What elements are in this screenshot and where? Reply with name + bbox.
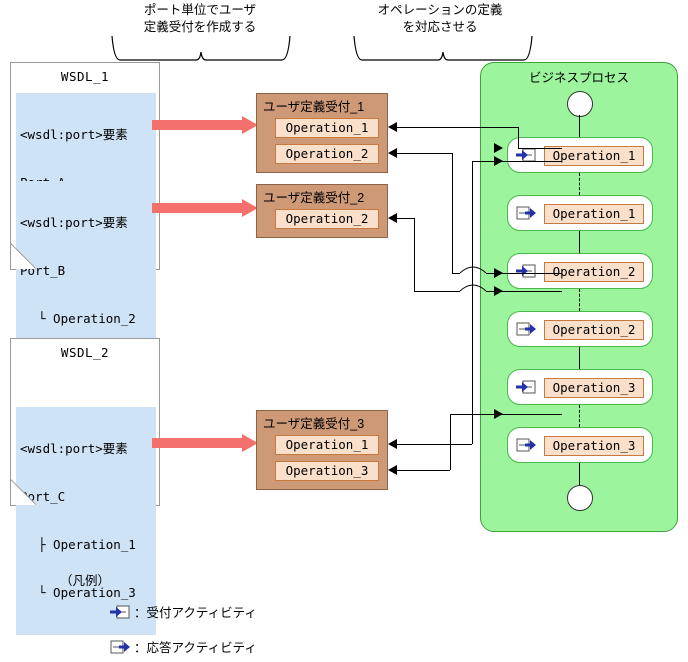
user-receive-2-operation-chip-1[interactable]: Operation_2	[275, 209, 379, 229]
reply-activity-icon	[516, 205, 536, 221]
business-process-panel: ビジネスプロセス Operation_1	[480, 62, 678, 532]
connector-1-arrowhead-left	[388, 122, 397, 132]
sequence-flow-4	[579, 347, 580, 369]
connector-4-segment-h1	[390, 444, 472, 445]
connector-4-arrowhead-left	[388, 439, 397, 449]
connector-5-segment-v	[450, 414, 451, 470]
connector-4-arrowhead-right	[494, 156, 503, 166]
wsdl-1-port-b-block: <wsdl:port>要素 Port_B └ Operation_2	[16, 181, 156, 361]
connector-1-segment-h2	[518, 148, 562, 149]
user-receive-1-operation-chip-2[interactable]: Operation_2	[275, 144, 379, 164]
wsdl-1-port-b-name: Port_B	[20, 263, 152, 279]
activity-reply-operation-1-label: Operation_1	[544, 204, 644, 224]
legend-item-reply: ：応答アクティビティ	[110, 637, 257, 656]
connector-3-segment-h2	[414, 291, 460, 292]
connector-2-line-jump	[460, 266, 486, 276]
connector-1-segment-v	[518, 127, 519, 148]
wsdl-document-1: WSDL_1 <wsdl:port>要素 Port_A ├ Operation_…	[10, 62, 160, 270]
wsdl-document-2-title: WSDL_2	[11, 339, 159, 360]
connector-5-arrowhead-right	[494, 409, 503, 419]
wsdl-2-port-c-element: <wsdl:port>要素	[20, 441, 152, 457]
user-receive-group-2-title: ユーザ定義受付_2	[257, 185, 387, 207]
connector-4-segment-v	[472, 161, 473, 444]
legend-item-receive: ：受付アクティビティ	[110, 602, 257, 621]
receive-activity-icon	[516, 379, 536, 395]
wsdl-1-port-b-element: <wsdl:port>要素	[20, 215, 152, 231]
reply-activity-icon	[110, 639, 130, 655]
process-end-event	[567, 485, 593, 511]
user-receive-group-3[interactable]: ユーザ定義受付_3 Operation_1 Operation_3	[256, 410, 388, 490]
wsdl-2-port-c-operation-1: ├ Operation_1	[20, 537, 152, 553]
diagram-canvas: ポート単位でユーザ 定義受付を作成する オペレーションの定義 を対応させる WS…	[0, 0, 688, 662]
sequence-flow-start	[579, 115, 580, 137]
wsdl-1-port-a-element: <wsdl:port>要素	[20, 127, 152, 143]
left-annotation-brace	[110, 38, 290, 62]
connector-5-arrowhead-left	[388, 465, 397, 475]
process-start-event	[567, 91, 593, 117]
user-receive-group-2[interactable]: ユーザ定義受付_2 Operation_2	[256, 184, 388, 238]
left-annotation-caption: ポート単位でユーザ 定義受付を作成する	[112, 2, 288, 36]
reply-activity-icon	[516, 321, 536, 337]
activity-receive-operation-3[interactable]: Operation_3	[507, 369, 653, 405]
legend-item-reply-text: ：応答アクティビティ	[134, 637, 257, 656]
connector-5-segment-h1	[390, 470, 450, 471]
wsdl-document-1-page-fold	[11, 243, 37, 269]
sequence-flow-2	[579, 231, 580, 253]
activity-receive-operation-1[interactable]: Operation_1	[507, 137, 653, 173]
fat-arrow-port-a-to-receive-1	[152, 116, 258, 134]
connector-2-segment-v	[452, 153, 453, 273]
user-receive-group-3-title: ユーザ定義受付_3	[257, 411, 387, 433]
connector-2-segment-h2	[452, 273, 460, 274]
activity-reply-operation-1[interactable]: Operation_1	[507, 195, 653, 231]
connector-3-arrowhead-left	[388, 213, 397, 223]
user-receive-3-operation-chip-1[interactable]: Operation_1	[275, 435, 379, 455]
sequence-flow-5-dashed	[579, 405, 580, 427]
activity-receive-operation-2-label: Operation_2	[544, 262, 644, 282]
activity-receive-operation-3-label: Operation_3	[544, 378, 644, 398]
connector-4-segment-h2	[472, 161, 562, 162]
user-receive-3-operation-chip-2[interactable]: Operation_3	[275, 461, 379, 481]
user-receive-group-1-title: ユーザ定義受付_1	[257, 94, 387, 116]
activity-reply-operation-3[interactable]: Operation_3	[507, 427, 653, 463]
legend-title: （凡例）	[60, 570, 110, 589]
receive-activity-icon	[516, 263, 536, 279]
wsdl-document-1-title: WSDL_1	[11, 63, 159, 84]
activity-reply-operation-3-label: Operation_3	[544, 436, 644, 456]
receive-activity-icon	[110, 604, 130, 620]
right-annotation-caption: オペレーションの定義 を対応させる	[352, 2, 528, 36]
wsdl-2-port-c-name: Port_C	[20, 489, 152, 505]
activity-reply-operation-2[interactable]: Operation_2	[507, 311, 653, 347]
reply-activity-icon	[516, 437, 536, 453]
fat-arrow-port-c-to-receive-3	[152, 434, 258, 452]
connector-3-segment-v	[414, 218, 415, 291]
right-annotation-brace	[352, 38, 532, 62]
fat-arrow-port-b-to-receive-2	[152, 199, 258, 217]
sequence-flow-1-dashed	[579, 173, 580, 195]
wsdl-1-port-b-operation-1: └ Operation_2	[20, 311, 152, 327]
activity-receive-operation-1-label: Operation_1	[544, 146, 644, 166]
sequence-flow-end	[579, 463, 580, 485]
connector-2-arrowhead-right	[494, 268, 503, 278]
connector-1-arrowhead-right	[494, 143, 503, 153]
connector-3-line-jump	[460, 284, 486, 294]
wsdl-document-2: WSDL_2 <wsdl:port>要素 Port_C ├ Operation_…	[10, 338, 160, 506]
business-process-title: ビジネスプロセス	[481, 63, 677, 86]
connector-2-arrowhead-left	[388, 148, 397, 158]
activity-receive-operation-2[interactable]: Operation_2	[507, 253, 653, 289]
wsdl-document-2-page-fold	[11, 479, 37, 505]
user-receive-1-operation-chip-1[interactable]: Operation_1	[275, 118, 379, 138]
legend-item-receive-text: ：受付アクティビティ	[134, 602, 257, 621]
user-receive-group-1[interactable]: ユーザ定義受付_1 Operation_1 Operation_2	[256, 93, 388, 173]
connector-5-segment-h2	[450, 414, 562, 415]
connector-2-segment-h1	[390, 153, 452, 154]
connector-1-segment-h1	[390, 127, 518, 128]
sequence-flow-3-dashed	[579, 289, 580, 311]
activity-reply-operation-2-label: Operation_2	[544, 320, 644, 340]
connector-3-arrowhead-right	[494, 286, 503, 296]
wsdl-2-port-c-block: <wsdl:port>要素 Port_C ├ Operation_1 └ Ope…	[16, 407, 156, 635]
